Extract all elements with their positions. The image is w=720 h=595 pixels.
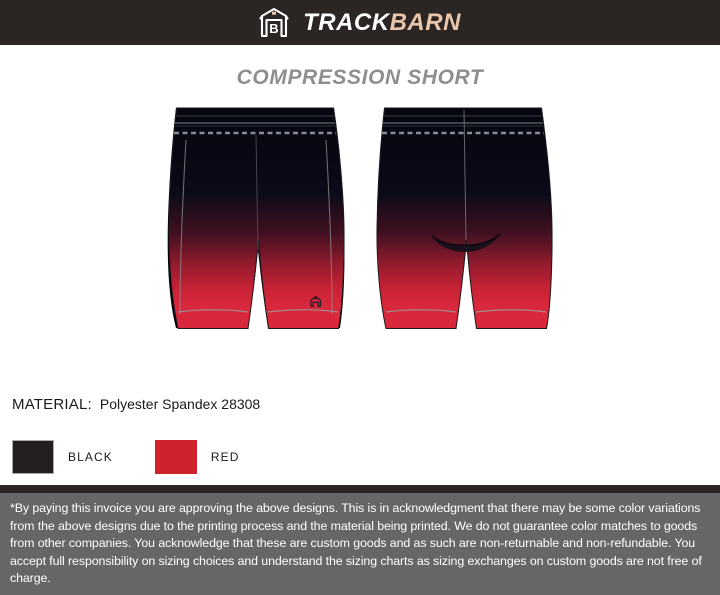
compression-short-front-view — [168, 108, 345, 329]
material-value: Polyester Spandex 28308 — [100, 396, 260, 412]
disclaimer-text: *By paying this invoice you are approvin… — [10, 500, 710, 588]
brand-wordmark: TRACKBARN — [303, 11, 461, 35]
color-swatch-red: RED — [155, 440, 282, 474]
design-proof-page: B TRACKBARN COMPRESSION SHORT — [0, 0, 720, 595]
svg-text:B: B — [269, 21, 278, 36]
material-row: MATERIAL: Polyester Spandex 28308 — [12, 396, 260, 413]
material-label: MATERIAL: — [12, 396, 92, 413]
footer-divider — [0, 485, 720, 493]
color-swatch-row: BLACK RED — [12, 440, 282, 474]
page-title: COMPRESSION SHORT — [0, 66, 720, 90]
header-divider — [0, 45, 720, 48]
compression-short-back-view — [377, 108, 552, 329]
swatch-label-black: BLACK — [68, 450, 113, 464]
brand-accent-text: BARN — [390, 9, 461, 36]
swatch-label-red: RED — [211, 450, 240, 464]
swatch-chip-red — [155, 440, 197, 474]
barn-logo-icon: B — [259, 7, 289, 39]
app-header: B TRACKBARN — [0, 0, 720, 45]
artwork-area — [0, 100, 720, 365]
swatch-chip-black — [12, 440, 54, 474]
brand-primary-text: TRACK — [303, 9, 390, 36]
footer-disclaimer-bar: *By paying this invoice you are approvin… — [0, 493, 720, 595]
color-swatch-black: BLACK — [12, 440, 155, 474]
